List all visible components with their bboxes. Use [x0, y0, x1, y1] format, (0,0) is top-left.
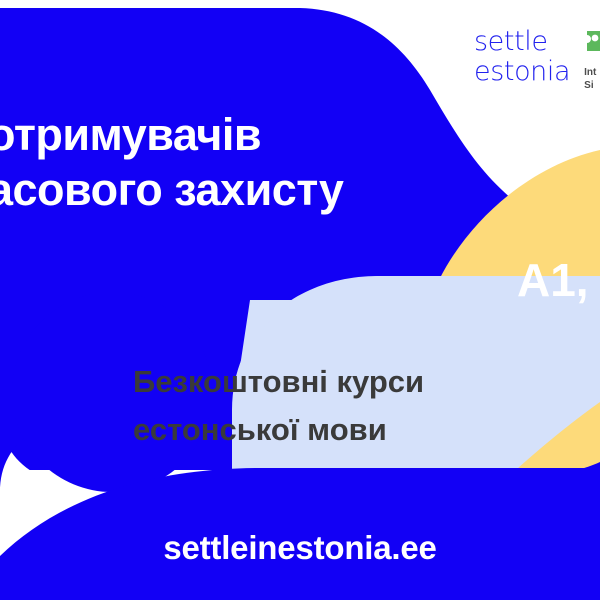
partner-logo-text: Int Si — [584, 67, 596, 92]
puzzle-piece-icon — [584, 28, 600, 62]
promo-poster: отримувачів асового захисту A1, Безкошто… — [0, 0, 600, 600]
logo-lockup: settle estonia Int Si — [474, 27, 600, 92]
settle-logo-line-1: settle — [474, 27, 570, 57]
headline-line-2: асового захисту — [0, 163, 458, 218]
website-url[interactable]: settleinestonia.ee — [0, 529, 600, 567]
partner-logo-line-1: Int — [584, 67, 596, 80]
settle-estonia-logo[interactable]: settle estonia — [474, 27, 570, 87]
partner-logo-line-2: Si — [584, 80, 596, 93]
headline: отримувачів асового захисту — [0, 108, 458, 218]
headline-line-1: отримувачів — [0, 108, 458, 163]
course-card-text: Безкоштовні курси естонської мови — [133, 358, 553, 455]
course-card-line-2: естонської мови — [133, 406, 553, 454]
course-card-line-1: Безкоштовні курси — [133, 358, 553, 406]
level-badge: A1, — [517, 253, 589, 307]
settle-logo-line-2: estonia — [474, 57, 570, 87]
partner-logo[interactable]: Int Si — [584, 27, 600, 92]
